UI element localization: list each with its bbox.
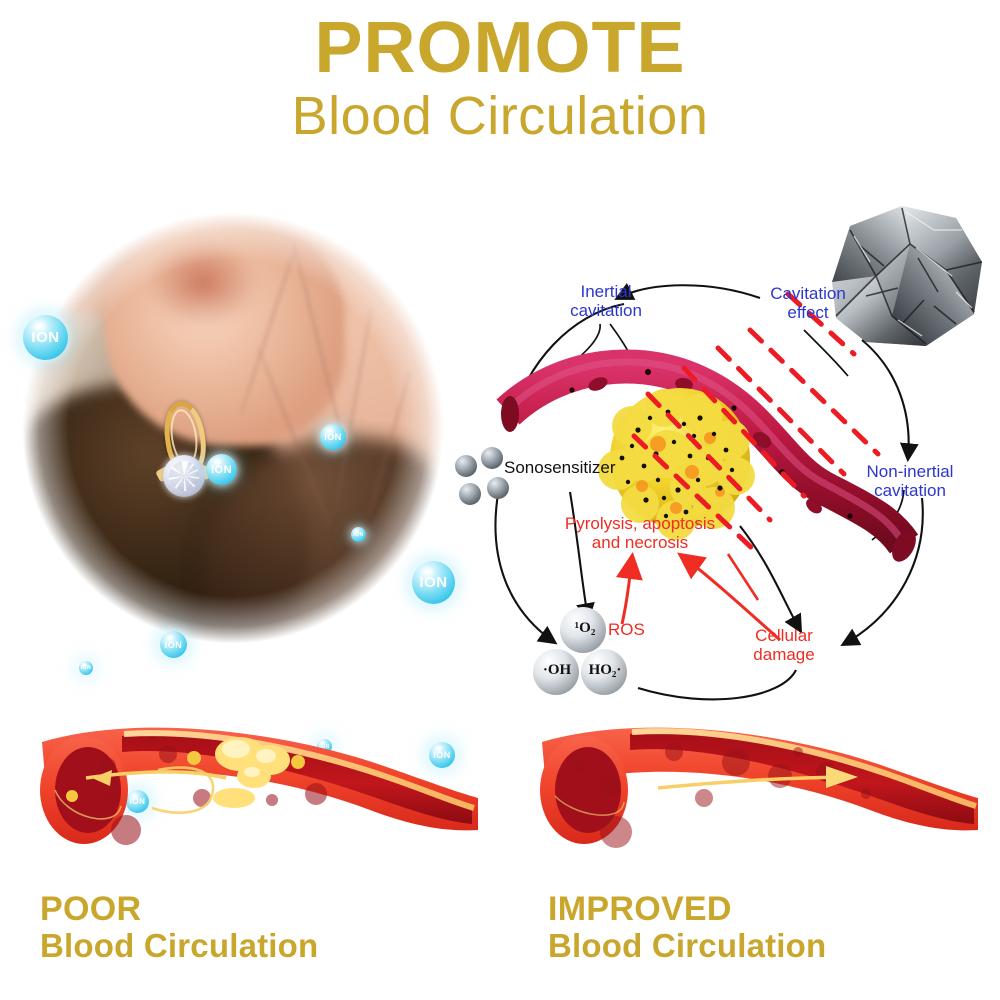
molecule-label-hydroperoxyl: HO₂·	[582, 662, 628, 679]
caption-left-top: POOR	[40, 892, 318, 928]
improved-blood-circulation-vessel	[526, 706, 986, 876]
sonodynamic-cavitation-mechanism-diagram: Inertial cavitation Cavitation effect No…	[452, 258, 982, 708]
label-cavitation-effect: Cavitation effect	[752, 284, 864, 322]
label-ros: ROS	[608, 620, 660, 639]
page-subtitle: Blood Circulation	[0, 88, 1000, 145]
improved-circulation-caption: IMPROVED Blood Circulation	[548, 892, 826, 965]
molecule-label-hydroxyl-radical: ·OH	[536, 662, 578, 679]
crystal-gem	[163, 455, 205, 497]
photo-circle-mask	[18, 208, 448, 648]
ion-bubble: ION	[79, 661, 93, 675]
molecule-label-singlet-oxygen: ¹O₂	[564, 620, 606, 637]
label-inertial-cavitation: Inertial cavitation	[548, 282, 664, 320]
sonosensitizer-particles	[455, 447, 509, 505]
header: PROMOTE Blood Circulation	[0, 14, 1000, 145]
caption-left-bottom: Blood Circulation	[40, 928, 318, 965]
label-non-inertial-cavitation: Non-inertial cavitation	[844, 462, 976, 500]
poor-blood-circulation-vessel	[26, 706, 486, 876]
caption-right-top: IMPROVED	[548, 892, 826, 928]
gold-hoop-earring	[151, 401, 231, 511]
ear-inner-shadow	[147, 239, 259, 327]
label-pyrolysis-apoptosis-necrosis: Pyrolysis, apoptosis and necrosis	[552, 514, 728, 552]
caption-right-bottom: Blood Circulation	[548, 928, 826, 965]
poor-circulation-caption: POOR Blood Circulation	[40, 892, 318, 965]
label-sonosensitizer: Sonosensitizer	[504, 458, 634, 477]
ear-with-earring-photo: IONIONIONIONIONIONIONIONIONION	[18, 196, 468, 676]
page-title: PROMOTE	[0, 14, 1000, 82]
label-cellular-damage: Cellular damage	[734, 626, 834, 664]
